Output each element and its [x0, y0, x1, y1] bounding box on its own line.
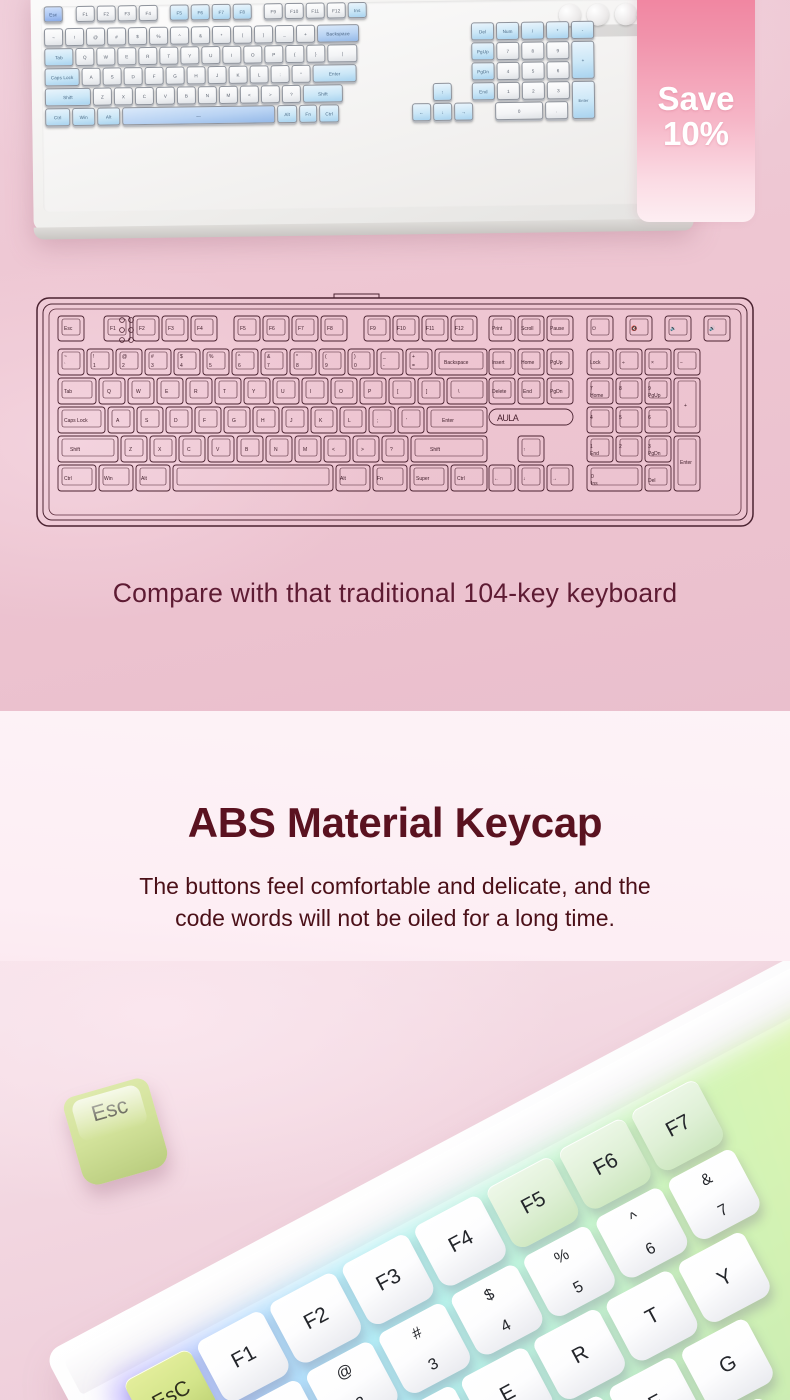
key-p[interactable]: P [264, 45, 283, 63]
svg-text:−: − [680, 360, 683, 366]
svg-text:Q: Q [107, 389, 111, 395]
key-f9[interactable]: F9 [264, 3, 283, 19]
svg-text:3: 3 [648, 444, 651, 450]
key-pgdn[interactable]: PgDn [471, 62, 494, 80]
key-f6[interactable]: F6 [191, 4, 210, 20]
key-7[interactable]: & [191, 26, 210, 44]
svg-text:Home: Home [590, 393, 604, 399]
svg-text:I: I [310, 389, 311, 395]
svg-text:;: ; [377, 418, 378, 424]
svg-text:↓: ↓ [523, 476, 526, 482]
key-f11[interactable]: F11 [306, 3, 325, 19]
svg-text:V: V [216, 447, 220, 453]
svg-text:Alt: Alt [340, 476, 346, 482]
svg-text:O: O [339, 389, 343, 395]
key-lalt[interactable]: Alt [97, 107, 120, 125]
svg-text:(: ( [325, 354, 327, 360]
svg-text:Z: Z [129, 447, 132, 453]
key-y[interactable]: Y [180, 46, 199, 64]
svg-text:AULA: AULA [497, 413, 519, 423]
svg-text:F10: F10 [397, 326, 406, 332]
key-f12[interactable]: F12 [327, 2, 346, 18]
key-enter[interactable]: Enter [312, 64, 356, 83]
svg-text:Backspace: Backspace [444, 360, 469, 366]
save-badge-line1: Save [657, 82, 734, 117]
key-numpad-8[interactable]: 8 [521, 41, 544, 59]
key-5-shifted: % [552, 1246, 573, 1269]
svg-text:?: ? [390, 447, 393, 453]
feature-title: ABS Material Keycap [0, 799, 790, 847]
key-6[interactable]: ^ [170, 26, 189, 44]
svg-text:Home: Home [521, 360, 535, 366]
key-pgup[interactable]: PgUp [471, 42, 494, 60]
key-lctrl[interactable]: Ctrl [45, 108, 70, 126]
svg-text:%: % [209, 354, 214, 360]
svg-text:8: 8 [619, 386, 622, 392]
key-numpad-multiply[interactable]: * [546, 21, 569, 39]
svg-text:Enter: Enter [680, 460, 692, 466]
svg-text:#: # [151, 354, 154, 360]
svg-text:4: 4 [180, 363, 183, 369]
key-capslock[interactable]: Caps Lock [45, 68, 80, 86]
key-numpad-4[interactable]: 4 [496, 62, 519, 80]
key-f3[interactable]: F3 [118, 5, 137, 21]
key-numpad-5[interactable]: 5 [521, 61, 544, 79]
svg-text:F4: F4 [197, 326, 203, 332]
key-l[interactable]: L [249, 65, 268, 83]
key-4-shifted: $ [482, 1286, 498, 1306]
key-2-base: 2 [353, 1394, 369, 1400]
key-4[interactable]: $ [128, 27, 147, 45]
svg-text:~: ~ [64, 354, 67, 360]
key-3[interactable]: # [107, 27, 126, 45]
svg-text:F6: F6 [269, 326, 275, 332]
key-esc[interactable]: Esc [44, 6, 63, 22]
key-b[interactable]: B [177, 86, 196, 104]
svg-text:2: 2 [122, 363, 125, 369]
svg-text:7: 7 [590, 386, 593, 392]
svg-text:Fn: Fn [377, 476, 383, 482]
key-rshift[interactable]: Shift [303, 84, 343, 103]
key-o[interactable]: O [243, 45, 262, 63]
svg-text:K: K [319, 418, 323, 424]
key-s[interactable]: S [103, 67, 122, 85]
feature-subtitle: The buttons feel comfortable and delicat… [0, 871, 790, 934]
key-f5[interactable]: F5 [170, 4, 189, 20]
svg-text:PgDn: PgDn [648, 451, 661, 457]
svg-text:↑: ↑ [523, 447, 526, 453]
svg-text:Enter: Enter [442, 418, 454, 424]
key-f[interactable]: F [145, 67, 164, 85]
key-numpad-0[interactable]: 0 [495, 101, 543, 120]
svg-text:PgUp: PgUp [550, 360, 563, 366]
photo-kb-bottom-row: Ctrl Win Alt — Alt Fn Ctrl [45, 104, 339, 126]
key-del[interactable]: Del [471, 22, 494, 40]
key-slash[interactable]: ? [282, 85, 301, 103]
key-numpad-enter[interactable]: Enter [572, 81, 596, 119]
key-2-shifted: @ [334, 1361, 357, 1385]
svg-text:): ) [354, 354, 356, 360]
photo-kb-shift-row: Shift Z X C V B N M < > ? Shift [45, 84, 343, 106]
key-comma[interactable]: < [240, 85, 259, 103]
svg-text:P: P [368, 389, 372, 395]
svg-text:4: 4 [590, 415, 593, 421]
key-9[interactable]: ( [233, 26, 252, 44]
svg-text:End: End [590, 451, 599, 457]
feature-section: ABS Material Keycap The buttons feel com… [0, 711, 790, 1400]
feature-subtitle-line1: The buttons feel comfortable and delicat… [139, 873, 650, 899]
key-equals[interactable]: + [296, 25, 315, 43]
key-numpad-divide[interactable]: / [521, 21, 544, 39]
save-badge-line2: 10% [663, 117, 729, 152]
svg-text:X: X [158, 447, 162, 453]
svg-text:[: [ [397, 389, 399, 395]
svg-text:L: L [348, 418, 351, 424]
key-x[interactable]: X [114, 87, 133, 105]
white-keyboard-closeup-photo: EsC F1 F2 F3 F4 F5 F6 F7 ~ ` ! [0, 961, 790, 1400]
svg-text:9: 9 [325, 363, 328, 369]
key-f2[interactable]: F2 [97, 5, 116, 21]
svg-text:Del: Del [648, 478, 656, 484]
photo-kb-numpad-row5: 0 . [495, 101, 568, 120]
product-detail-page: CAPSNUMSCRL [0, 0, 790, 1400]
svg-text:⏻: ⏻ [592, 326, 596, 332]
key-2[interactable]: @ [86, 28, 105, 46]
key-ralt[interactable]: Alt [277, 105, 297, 123]
svg-text:0: 0 [354, 363, 357, 369]
key-numpad-plus[interactable]: + [571, 41, 595, 79]
svg-text:7: 7 [267, 363, 270, 369]
svg-text:F12: F12 [455, 326, 464, 332]
key-lshift[interactable]: Shift [45, 88, 91, 107]
svg-text:$: $ [180, 354, 183, 360]
svg-text:F1: F1 [110, 326, 116, 332]
svg-text:=: = [412, 363, 415, 369]
svg-text:Ctrl: Ctrl [457, 476, 465, 482]
svg-text:PgDn: PgDn [550, 389, 563, 395]
svg-text:': ' [406, 418, 407, 424]
svg-text:Delete: Delete [492, 389, 507, 395]
svg-text:Alt: Alt [141, 476, 147, 482]
key-numpad-7[interactable]: 7 [496, 42, 519, 60]
svg-text:×: × [651, 360, 654, 366]
svg-text:Print: Print [492, 326, 503, 332]
key-j[interactable]: J [207, 66, 226, 84]
photo-kb-arrow-row: ← ↓ → [412, 102, 473, 121]
key-w[interactable]: W [96, 47, 115, 65]
key-f10[interactable]: F10 [285, 3, 304, 19]
photo-kb-number-row: ~ ! @ # $ % ^ & * ( ) _ + Backspace [44, 24, 359, 46]
svg-text:8: 8 [296, 363, 299, 369]
key-1[interactable]: ! [65, 28, 84, 46]
svg-text:🔊: 🔊 [709, 325, 715, 332]
svg-text:A: A [116, 418, 120, 424]
svg-text:1: 1 [590, 444, 593, 450]
svg-text:`: ` [64, 363, 66, 369]
key-e[interactable]: E [117, 47, 136, 65]
svg-text:Scroll: Scroll [521, 326, 534, 332]
feature-subtitle-line2: code words will not be oiled for a long … [175, 905, 615, 931]
svg-text:]: ] [426, 389, 428, 395]
svg-text:H: H [261, 418, 265, 424]
svg-text:Tab: Tab [64, 389, 72, 395]
key-7-base: 7 [715, 1201, 731, 1221]
svg-text:Ins: Ins [591, 481, 598, 487]
svg-text:S: S [145, 418, 149, 424]
svg-text:Pause: Pause [550, 326, 564, 332]
svg-text:+: + [684, 403, 687, 409]
key-win[interactable]: Win [72, 108, 95, 126]
compare-section: CAPSNUMSCRL [0, 0, 790, 711]
svg-text:🔇: 🔇 [631, 325, 637, 332]
svg-text:Ctrl: Ctrl [64, 476, 72, 482]
key-fn[interactable]: Fn [299, 105, 317, 123]
svg-text:→: → [552, 476, 557, 482]
key-k[interactable]: K [228, 66, 247, 84]
svg-text:U: U [281, 389, 285, 395]
svg-text:^: ^ [238, 354, 241, 360]
key-lbracket[interactable]: { [285, 45, 304, 63]
svg-text:5: 5 [619, 415, 622, 421]
svg-text:+: + [412, 354, 415, 360]
svg-text:Esc: Esc [64, 326, 73, 332]
key-v[interactable]: V [156, 87, 175, 105]
key-4-base: 4 [498, 1317, 514, 1337]
key-3-base: 3 [426, 1355, 442, 1375]
photo-kb-numpad-row3: PgDn 4 5 6 [471, 61, 569, 80]
key-d[interactable]: D [124, 67, 143, 85]
key-rbracket[interactable]: } [306, 45, 325, 63]
svg-text:F7: F7 [298, 326, 304, 332]
svg-text:🔉: 🔉 [670, 326, 676, 332]
key-8[interactable]: * [212, 26, 231, 44]
svg-text:F8: F8 [327, 326, 333, 332]
key-0[interactable]: ) [254, 25, 273, 43]
svg-text:End: End [523, 389, 532, 395]
key-f4[interactable]: F4 [139, 5, 158, 21]
blue-white-keyboard-photo: CAPSNUMSCRL [30, 0, 693, 231]
key-7-shifted: & [698, 1170, 716, 1191]
svg-text:1: 1 [93, 363, 96, 369]
key-numpad-1[interactable]: 1 [497, 82, 520, 100]
svg-text:PgUp: PgUp [648, 393, 661, 399]
key-backspace[interactable]: Backspace [317, 24, 359, 43]
svg-text:6: 6 [648, 415, 651, 421]
key-6-base: 6 [643, 1240, 659, 1260]
key-i[interactable]: I [222, 46, 241, 64]
svg-text:F11: F11 [426, 326, 434, 332]
key-num[interactable]: Num [496, 22, 519, 40]
key-r[interactable]: R [138, 47, 157, 65]
key-numpad-3[interactable]: 3 [547, 81, 570, 99]
svg-text:B: B [245, 447, 249, 453]
key-q[interactable]: Q [75, 48, 94, 66]
svg-text:J: J [290, 418, 293, 424]
key-numpad-2[interactable]: 2 [522, 81, 545, 99]
key-arrow-left[interactable]: ← [412, 103, 431, 121]
svg-text:F9: F9 [370, 326, 376, 332]
svg-text:T: T [223, 389, 226, 395]
key-t[interactable]: T [159, 47, 178, 65]
key-g[interactable]: G [166, 66, 185, 84]
svg-text:C: C [187, 447, 191, 453]
svg-text:Win: Win [104, 476, 113, 482]
svg-text:Lock: Lock [590, 360, 601, 366]
key-semicolon[interactable]: : [270, 65, 289, 83]
svg-text:F2: F2 [139, 326, 145, 332]
key-backslash[interactable]: | [327, 44, 357, 62]
key-z[interactable]: Z [93, 87, 112, 105]
svg-text:>: > [361, 447, 364, 453]
key-end[interactable]: End [472, 82, 495, 100]
key-f1[interactable]: F1 [76, 6, 95, 22]
svg-text:9: 9 [648, 386, 651, 392]
key-arrow-up[interactable]: ↑ [433, 83, 452, 101]
svg-text:Shift: Shift [430, 447, 441, 453]
svg-text:_: _ [382, 354, 386, 360]
svg-text:!: ! [93, 354, 94, 360]
svg-text:F: F [203, 418, 206, 424]
svg-text:Insert: Insert [492, 360, 505, 366]
svg-text:2: 2 [619, 444, 622, 450]
key-minus[interactable]: _ [275, 25, 294, 43]
key-numpad-9[interactable]: 9 [546, 41, 569, 59]
key-numpad-minus[interactable]: - [571, 21, 594, 39]
svg-text:-: - [383, 363, 385, 369]
photo-kb-fn-row: Esc F1 F2 F3 F4 F5 F6 F7 F8 F9 F10 [44, 2, 367, 23]
key-numpad-6[interactable]: 6 [546, 61, 569, 79]
key-tab[interactable]: Tab [44, 48, 73, 66]
key-m[interactable]: M [219, 86, 238, 104]
photo-kb-numpad-row1: Del Num / * - [471, 21, 594, 41]
key-rctrl[interactable]: Ctrl [319, 104, 339, 122]
svg-text:M: M [303, 447, 307, 453]
angled-keyboard: EsC F1 F2 F3 F4 F5 F6 F7 ~ ` ! [44, 961, 790, 1400]
svg-text:\: \ [458, 389, 460, 395]
save-badge: Save 10% [637, 0, 755, 222]
svg-text:*: * [296, 354, 298, 360]
svg-text:÷: ÷ [622, 360, 625, 366]
key-backtick[interactable]: ~ [44, 28, 63, 46]
key-a[interactable]: A [82, 68, 101, 86]
key-5-base: 5 [570, 1278, 586, 1298]
key-c[interactable]: C [135, 87, 154, 105]
compare-caption: Compare with that traditional 104-key ke… [0, 578, 790, 609]
key-5[interactable]: % [149, 27, 168, 45]
key-quote[interactable]: " [291, 65, 310, 83]
key-arrow-down[interactable]: ↓ [433, 103, 452, 121]
svg-text:←: ← [494, 476, 499, 482]
key-period[interactable]: > [261, 85, 280, 103]
svg-text:Shift: Shift [70, 447, 81, 453]
svg-text:F3: F3 [168, 326, 174, 332]
key-n[interactable]: N [198, 86, 217, 104]
svg-text:0: 0 [591, 474, 594, 480]
key-f8[interactable]: F8 [233, 4, 252, 20]
svg-text:5: 5 [209, 363, 212, 369]
key-space[interactable]: — [122, 105, 275, 125]
lineart-104-key-keyboard: AULA Esc F1F2F3F4 F5F6F7F8 F9F10F11F12 P… [34, 292, 756, 532]
svg-text:Caps Lock: Caps Lock [64, 418, 88, 424]
photo-kb-qwerty-row: Tab Q W E R T Y U I O P { } | [44, 44, 357, 66]
svg-text:G: G [232, 418, 236, 424]
key-arrow-right[interactable]: → [454, 102, 473, 120]
photo-kb-home-row: Caps Lock A S D F G H J K L : " Enter [45, 64, 357, 86]
svg-text:R: R [194, 389, 198, 395]
svg-text:N: N [274, 447, 278, 453]
svg-text:3: 3 [151, 363, 154, 369]
svg-text:Y: Y [252, 389, 256, 395]
key-u[interactable]: U [201, 46, 220, 64]
key-3-shifted: # [409, 1324, 425, 1344]
svg-text:F5: F5 [240, 326, 246, 332]
svg-text:<: < [332, 447, 335, 453]
key-f7[interactable]: F7 [212, 4, 231, 20]
svg-text:D: D [174, 418, 178, 424]
key-h[interactable]: H [187, 66, 206, 84]
svg-text:@: @ [122, 354, 127, 360]
key-numpad-decimal[interactable]: . [545, 101, 568, 119]
svg-text:Super: Super [416, 476, 430, 482]
svg-text:W: W [136, 389, 141, 395]
svg-text:E: E [165, 389, 169, 395]
svg-text:&: & [267, 354, 271, 360]
svg-text:6: 6 [238, 363, 241, 369]
key-ins[interactable]: Ins [348, 2, 367, 18]
key-6-shifted: ^ [627, 1209, 642, 1228]
